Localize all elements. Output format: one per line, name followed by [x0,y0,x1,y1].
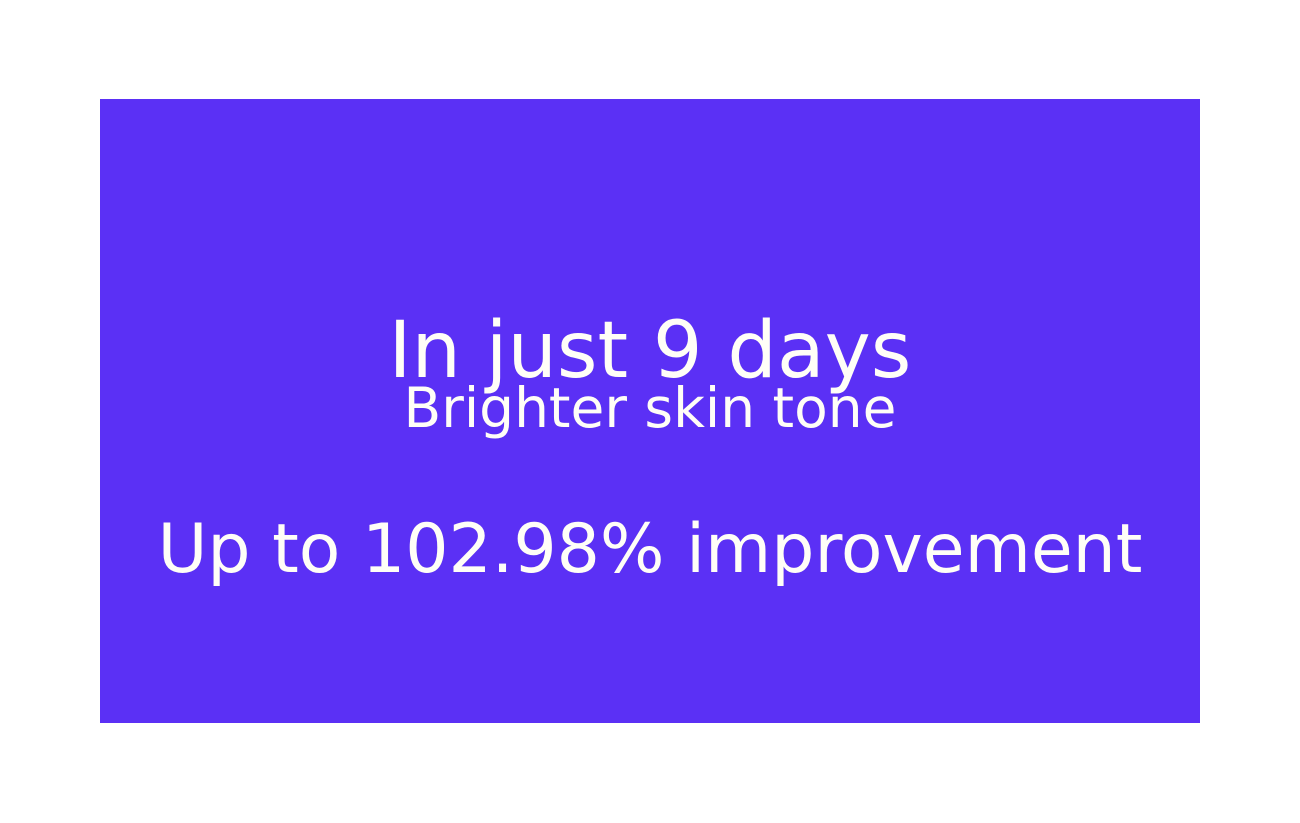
subhead-benefit: Brighter skin tone [100,381,1200,436]
claim-improvement: Up to 102.98% improvement [100,516,1200,584]
promo-panel: In just 9 days Brighter skin tone Up to … [100,99,1200,723]
promo-slide: In just 9 days Brighter skin tone Up to … [0,0,1300,823]
